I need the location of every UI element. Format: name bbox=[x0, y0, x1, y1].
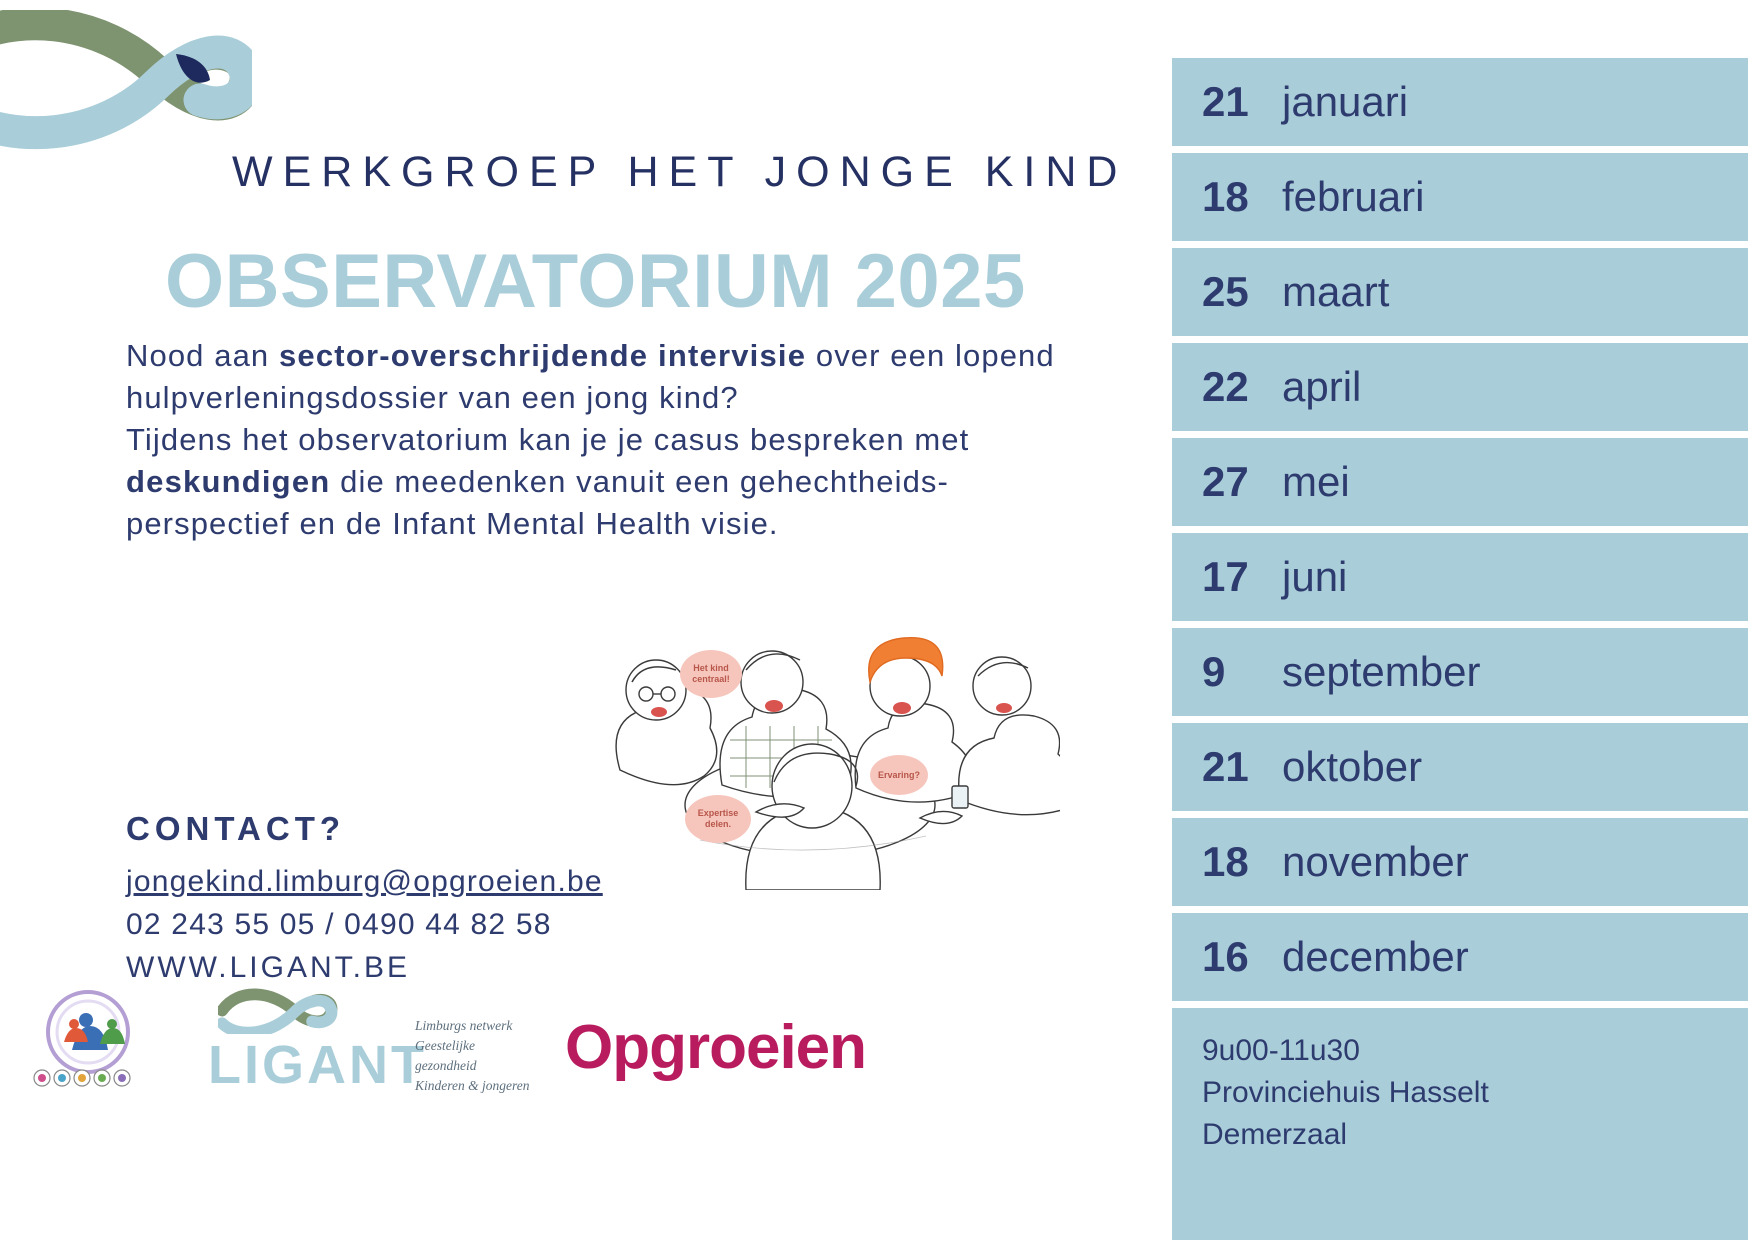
date-month: januari bbox=[1282, 78, 1408, 126]
date-month: oktober bbox=[1282, 743, 1422, 791]
speech-bubble-3: Expertise delen. bbox=[685, 795, 751, 843]
ligant-tagline-line3: Kinderen & jongeren bbox=[415, 1076, 530, 1096]
date-month: mei bbox=[1282, 458, 1350, 506]
date-month: september bbox=[1282, 648, 1480, 696]
description-text: Nood aan sector-overschrijdende intervis… bbox=[126, 335, 1071, 545]
desc-p2-a: Tijdens het observatorium kan je je casu… bbox=[126, 422, 969, 457]
venue-place: Provinciehuis Hasselt bbox=[1202, 1072, 1748, 1114]
date-list: 21januari18februari25maart22april27mei17… bbox=[1172, 58, 1748, 1008]
venue-info: 9u00-11u30 Provinciehuis Hasselt Demerza… bbox=[1172, 1008, 1748, 1156]
desc-p1-bold: sector-overschrijdende intervisie bbox=[279, 338, 806, 373]
date-day: 21 bbox=[1202, 78, 1282, 126]
venue-time: 9u00-11u30 bbox=[1202, 1030, 1748, 1072]
date-day: 16 bbox=[1202, 933, 1282, 981]
date-row: 21oktober bbox=[1172, 723, 1748, 818]
date-row: 9september bbox=[1172, 628, 1748, 723]
date-day: 9 bbox=[1202, 648, 1282, 696]
date-day: 17 bbox=[1202, 553, 1282, 601]
date-day: 27 bbox=[1202, 458, 1282, 506]
dates-sidebar: 21januari18februari25maart22april27mei17… bbox=[1172, 58, 1748, 1240]
contact-email-link[interactable]: jongekind.limburg@opgroeien.be bbox=[126, 860, 603, 903]
partner-logo-strip: LIGANT Limburgs netwerk Geestelijke gezo… bbox=[0, 980, 1170, 1240]
date-row: 17juni bbox=[1172, 533, 1748, 628]
ligant-tagline-line1: Limburgs netwerk bbox=[415, 1016, 530, 1036]
page-kicker: WERKGROEP HET JONGE KIND bbox=[232, 148, 1127, 197]
desc-p2-bold: deskundigen bbox=[126, 464, 330, 499]
date-row: 22april bbox=[1172, 343, 1748, 438]
date-day: 18 bbox=[1202, 173, 1282, 221]
child-network-logo bbox=[28, 980, 148, 1090]
ligant-wordmark: LIGANT bbox=[208, 1034, 427, 1096]
date-day: 18 bbox=[1202, 838, 1282, 886]
ligant-tagline: Limburgs netwerk Geestelijke gezondheid … bbox=[415, 1016, 530, 1096]
date-month: december bbox=[1282, 933, 1469, 981]
infinity-logo bbox=[0, 10, 252, 170]
date-month: maart bbox=[1282, 268, 1389, 316]
venue-room: Demerzaal bbox=[1202, 1114, 1748, 1156]
date-row: 18februari bbox=[1172, 153, 1748, 248]
date-month: juni bbox=[1282, 553, 1347, 601]
opgroeien-logo: Opgroeien bbox=[565, 1012, 866, 1083]
desc-p1-a: Nood aan bbox=[126, 338, 279, 373]
ligant-tagline-line2: Geestelijke gezondheid bbox=[415, 1036, 530, 1076]
date-month: april bbox=[1282, 363, 1361, 411]
date-row: 25maart bbox=[1172, 248, 1748, 343]
date-row: 16december bbox=[1172, 913, 1748, 1008]
left-content-panel: WERKGROEP HET JONGE KIND OBSERVATORIUM 2… bbox=[0, 0, 1170, 1240]
date-month: februari bbox=[1282, 173, 1424, 221]
page-title: OBSERVATORIUM 2025 bbox=[165, 238, 1026, 325]
meeting-illustration: Het kind centraal! Ervaring? Expertise d… bbox=[560, 590, 1060, 890]
date-row: 27mei bbox=[1172, 438, 1748, 533]
date-row: 18november bbox=[1172, 818, 1748, 913]
speech-bubble-1: Het kind centraal! bbox=[680, 650, 742, 698]
date-day: 25 bbox=[1202, 268, 1282, 316]
contact-heading: CONTACT? bbox=[126, 810, 345, 848]
poster-root: WERKGROEP HET JONGE KIND OBSERVATORIUM 2… bbox=[0, 0, 1748, 1240]
contact-details: jongekind.limburg@opgroeien.be 02 243 55… bbox=[126, 860, 603, 989]
date-day: 22 bbox=[1202, 363, 1282, 411]
date-row: 21januari bbox=[1172, 58, 1748, 153]
speech-bubble-2: Ervaring? bbox=[870, 755, 928, 795]
ligant-logo: LIGANT Limburgs netwerk Geestelijke gezo… bbox=[200, 986, 530, 1091]
date-day: 21 bbox=[1202, 743, 1282, 791]
date-month: november bbox=[1282, 838, 1469, 886]
contact-phone: 02 243 55 05 / 0490 44 82 58 bbox=[126, 908, 552, 941]
